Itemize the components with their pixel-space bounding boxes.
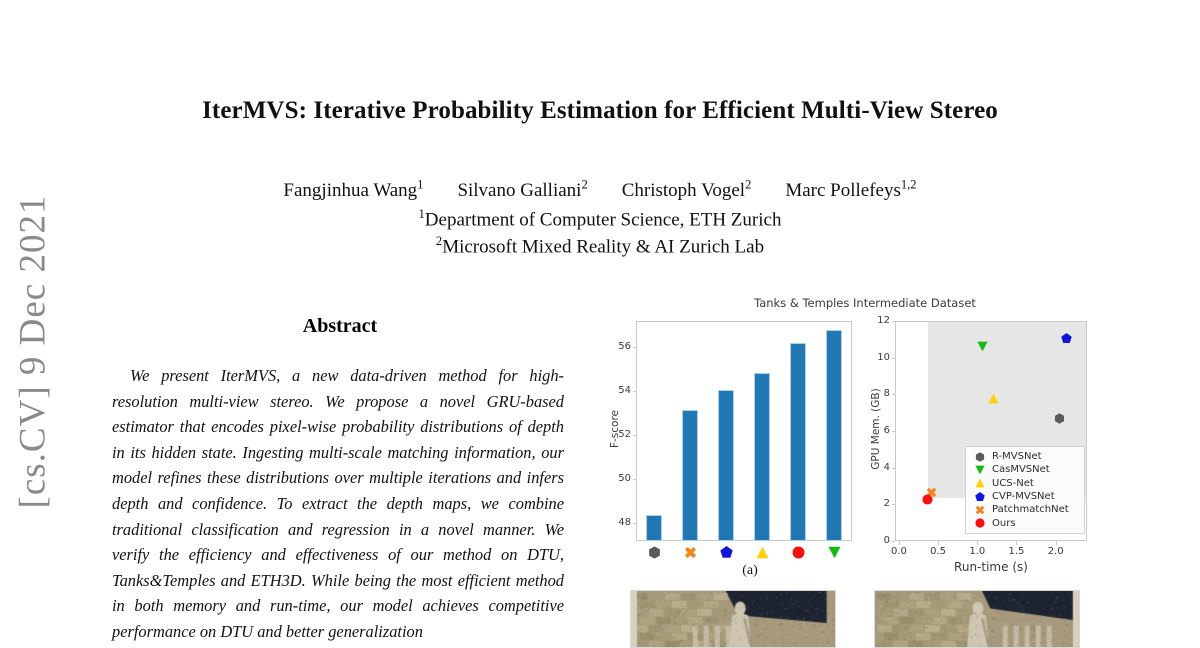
scatter-ytick-mark [892,358,896,359]
legend-marker-patchmatchnet-icon [970,503,990,516]
scatter-xtick-label-1: 0.5 [925,546,951,557]
legend-item: CVP-MVSNet [970,490,1079,503]
affiliation-marker: 1 [419,207,425,221]
scatter-ytick-label-5: 10 [873,352,890,363]
scatter-ytick-mark [892,431,896,432]
bar-chart: 4850525456F-score [600,296,860,576]
reconstruction-render [631,591,836,648]
scatter-xtick-mark [899,541,900,545]
author-affiliation-marker: 2 [745,178,751,192]
scatter-ytick-label-0: 0 [873,535,890,546]
scatter-chart: 0246810120.00.51.01.52.0Run-time (s)GPU … [855,296,1120,576]
bar [826,330,841,541]
bar-chart-xtick-marker-patchmatchnet [684,546,697,559]
bar-chart-ytick-mark [633,523,637,524]
bar-chart-xtick-marker-ucs-net [756,546,769,559]
scatter-xtick-mark [1056,541,1057,545]
author-affiliation-marker: 2 [581,178,587,192]
bar-chart-ytick-label-3: 54 [614,385,631,396]
scatter-ytick-mark [892,468,896,469]
scatter-point-ours [922,492,933,503]
bar-chart-xtick-marker-ours [792,546,805,559]
abstract-heading: Abstract [110,315,570,338]
affiliation-1: 1Department of Computer Science, ETH Zur… [100,207,1100,231]
bar-chart-ytick-mark [633,391,637,392]
legend-item: UCS-Net [970,477,1079,490]
bar-chart-ytick-label-4: 56 [614,341,631,352]
scatter-xtick-mark [1016,541,1017,545]
scatter-ytick-mark [892,504,896,505]
scatter-ytick-mark [892,321,896,322]
abstract-body: We present IterMVS, a new data-driven me… [112,363,564,645]
scatter-xtick-mark [977,541,978,545]
scatter-xtick-label-3: 1.5 [1003,546,1029,557]
affiliation-marker: 2 [436,234,442,248]
bar-chart-plot-area [636,321,852,541]
scatter-point-ucs-net [988,391,999,402]
bar [646,515,661,541]
reconstruction-render [875,591,1080,648]
reconstruction-right-image [874,590,1080,648]
author-affiliation-marker: 1 [417,178,423,192]
scatter-xtick-label-2: 1.0 [964,546,990,557]
bar [682,410,697,541]
legend-marker-cvp-mvsnet-icon [970,490,990,503]
scatter-xaxis-label: Run-time (s) [946,560,1036,574]
bar-chart-ytick-mark [633,347,637,348]
arxiv-stamp: [cs.CV] 9 Dec 2021 [12,187,55,517]
author-affiliation-marker: 1,2 [901,178,917,192]
scatter-ytick-mark [892,541,896,542]
bar-chart-ytick-label-1: 50 [614,473,631,484]
scatter-point-r-mvsnet [1054,411,1065,422]
scatter-ytick-label-1: 2 [873,498,890,509]
legend-marker-casmvsnet-icon [970,463,990,476]
scatter-xtick-label-0: 0.0 [886,546,912,557]
legend-label: R-MVSNet [992,451,1042,462]
legend-item: CasMVSNet [970,463,1079,476]
bar-chart-xtick-marker-r-mvsnet [648,546,661,559]
bar-chart-ytick-label-0: 48 [614,517,631,528]
legend-item: Ours [970,516,1079,529]
legend-item: R-MVSNet [970,450,1079,463]
author-name: Marc Pollefeys1,2 [785,180,916,201]
page-title: IterMVS: Iterative Probability Estimatio… [100,97,1100,125]
bar-chart-yaxis-label: F-score [609,399,621,459]
bar-chart-xtick-marker-casmvsnet [828,546,841,559]
bar-chart-ytick-mark [633,479,637,480]
legend-marker-r-mvsnet-icon [970,450,990,463]
bar [718,390,733,541]
scatter-ytick-mark [892,394,896,395]
scatter-point-cvp-mvsnet [1061,331,1072,342]
author-name: Fangjinhua Wang1 [283,180,423,201]
legend-label: CVP-MVSNet [992,491,1055,502]
bar-chart-xtick-marker-cvp-mvsnet [720,546,733,559]
legend-marker-ucs-net-icon [970,477,990,490]
scatter-point-casmvsnet [977,339,988,350]
author-name: Christoph Vogel2 [622,180,752,201]
subfigure-caption-a: (a) [600,563,900,579]
figure-title: Tanks & Temples Intermediate Dataset [705,296,1025,310]
scatter-xtick-label-4: 2.0 [1043,546,1069,557]
legend-item: PatchmatchNet [970,503,1079,516]
bar [790,343,805,541]
bar [754,373,769,541]
scatter-legend: R-MVSNetCasMVSNetUCS-NetCVP-MVSNetPatchm… [965,446,1085,534]
scatter-xtick-mark [938,541,939,545]
author-name: Silvano Galliani2 [457,180,587,201]
scatter-yaxis-label: GPU Mem. (GB) [870,384,882,474]
legend-label: PatchmatchNet [992,504,1069,515]
legend-label: UCS-Net [992,478,1034,489]
reconstruction-left-image [630,590,836,648]
author-line: Fangjinhua Wang1Silvano Galliani2Christo… [100,178,1100,202]
legend-label: Ours [992,518,1016,529]
affiliation-2: 2Microsoft Mixed Reality & AI Zurich Lab [100,234,1100,258]
scatter-ytick-label-6: 12 [873,315,890,326]
legend-label: CasMVSNet [992,464,1050,475]
bar-chart-ytick-mark [633,435,637,436]
legend-marker-ours-icon [970,517,990,530]
